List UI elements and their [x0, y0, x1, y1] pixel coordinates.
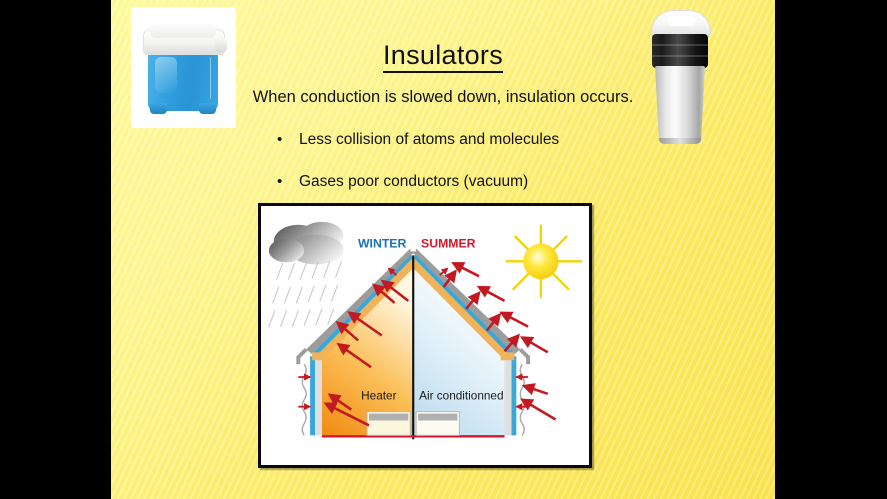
list-item: • Less collision of atoms and molecules	[277, 131, 747, 149]
presentation-slide: Insulators When conduction is slowed dow…	[111, 0, 775, 499]
wall-inner-left	[315, 356, 322, 435]
slide-subtitle: When conduction is slowed down, insulati…	[111, 88, 775, 107]
room-label-heater: Heater	[361, 389, 396, 403]
slide-title-text: Insulators	[383, 40, 503, 73]
bullet-marker-icon: •	[277, 173, 299, 190]
cooler-lid-top	[150, 24, 216, 38]
slide-title: Insulators	[111, 40, 775, 71]
wall-plate-right	[501, 352, 515, 360]
wall-sheathing-right	[511, 356, 516, 435]
room-label-air-conditioned: Air conditionned	[419, 389, 503, 403]
wall-inner-right	[505, 356, 512, 435]
travel-mug-photo	[644, 8, 716, 148]
sun-disc	[523, 244, 558, 280]
house-insulation-diagram: WINTER SUMMER Heater Air conditionned	[258, 203, 592, 468]
bullet-text: Gases poor conductors (vacuum)	[299, 173, 528, 191]
wall-plate-left	[312, 352, 326, 360]
screenshot-stage: Insulators When conduction is slowed dow…	[0, 0, 887, 499]
bullet-text: Less collision of atoms and molecules	[299, 131, 559, 149]
list-item: • Gases poor conductors (vacuum)	[277, 173, 747, 191]
air-conditioner-unit	[416, 412, 459, 436]
season-label-summer: SUMMER	[421, 236, 476, 250]
wall-sheathing-left	[310, 356, 315, 435]
mug-lid-highlight	[668, 16, 696, 26]
house-diagram-svg: WINTER SUMMER Heater Air conditionned	[261, 206, 589, 465]
heater-unit	[367, 412, 410, 436]
season-label-winter: WINTER	[358, 236, 406, 250]
bullet-marker-icon: •	[277, 131, 299, 148]
